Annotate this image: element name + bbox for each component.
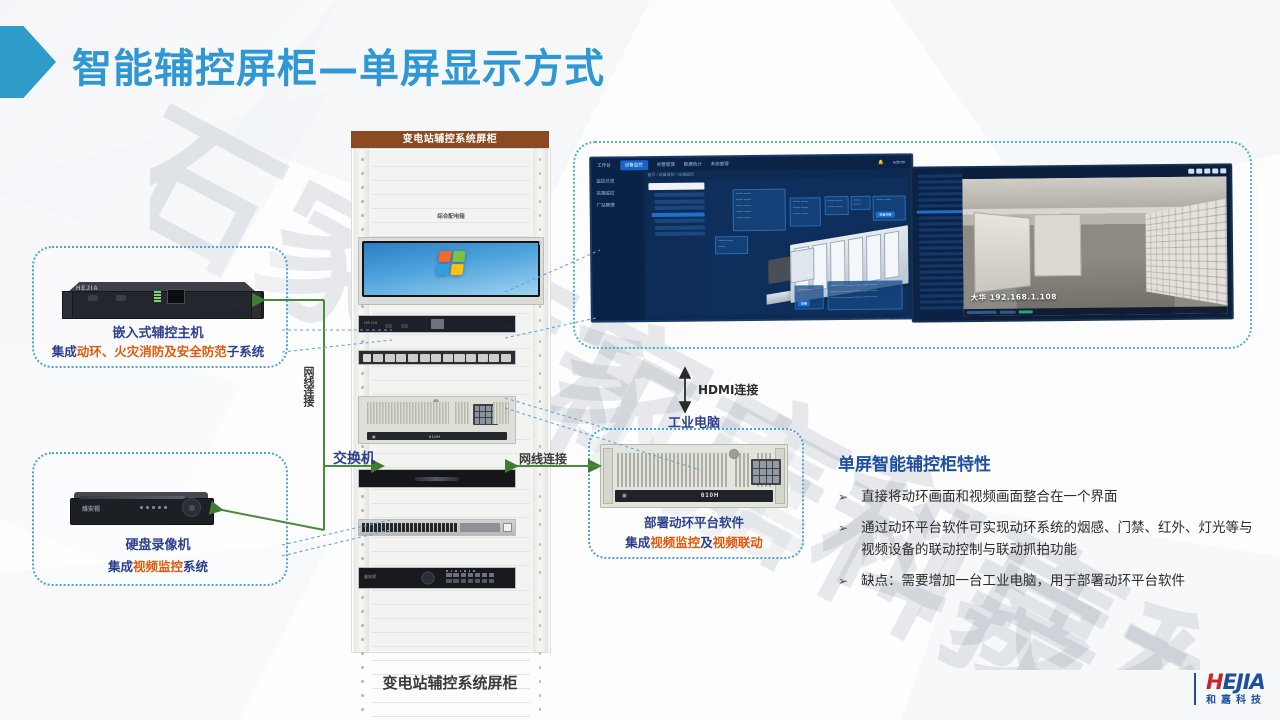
industrial-pc-line2: 集成视频监控及视频联动 [586,532,802,551]
layout-4x4-icon[interactable] [1212,168,1218,173]
rack-caption: 变电站辅控系统屏柜 [330,672,570,693]
feature-item: ➢ 缺点：需要增加一台工业电脑，用于部署动环平台软件 [838,571,1256,593]
rack-unit-pdu [358,350,516,365]
ipc-line2-highlight2: 视频联动 [713,535,763,550]
page-title: 智能辅控屏柜—单屏显示方式 [72,36,605,94]
slide-root: 石家庄和嘉科技有限公司 石家庄和嘉科技有限公司 智能辅控屏柜—单屏显示方式 HE… [0,0,1280,720]
dashboard-menu-item[interactable]: 告警管理 [657,161,675,167]
industrial-pc-model: 610H [701,493,719,499]
features-panel: 单屏智能辅控柜特性 ➢ 直接将动环画面和视频画面整合在一个界面 ➢ 通过动环平台… [838,450,1256,601]
dashboard-user[interactable]: admin [893,159,905,164]
layout-3x3-icon[interactable] [1204,169,1210,174]
feature-item: ➢ 通过动环平台软件可实现动环系统的烟感、门禁、红外、灯光等与视频设备的联动控制… [838,518,1256,562]
dashboard-canvas: —— ———— ———— ———— ———— —— —— ———— ———— —… [704,177,908,315]
rack-unit-blank [358,469,516,488]
ipc-line2-highlight1: 视频监控 [650,535,700,550]
logo-en-rest: EJIA [1223,670,1265,694]
rack-monitor [358,237,544,305]
logo-cn: 和嘉科技 [1206,696,1266,706]
dashboard-tree-search[interactable] [648,182,704,190]
feature-text: 直接将动环画面和视频画面整合在一个界面 [861,487,1118,509]
dashboard-side-item[interactable]: 监控总览 [591,175,643,188]
dashboard-breadcrumb: 首页 / 设备监控 / 站端监控 [647,172,694,178]
dashboard-sidebar[interactable]: 监控总览 站端监控 厂站管理 [591,171,645,321]
features-title: 单屏智能辅控柜特性 [838,450,1256,475]
dvr-subtitle: 集成视频监控系统 [32,556,284,575]
dvr-brand-label: 维安视 [82,504,100,513]
embedded-aux-host-image: HEJIA . . . . . . . . . . . . . . [62,282,262,322]
rack-cabinet: 变电站辅控系统屏柜 综合配电箱 [351,131,549,651]
logo-divider [1194,673,1196,705]
video-overlay-text: 大华 192.168.1.108 [971,291,1057,303]
aux-host-sub-highlight: 动环、火灾消防及安全防范 [77,344,227,359]
dashboard-menu-item[interactable]: 系统管理 [711,161,729,167]
dashboard-screen[interactable]: 工作台 设备监控 告警管理 数据统计 系统管理 🔔 admin 首页 / 设备监… [589,153,915,322]
dashboard-tree[interactable] [645,179,708,316]
pdb-label: 综合配电箱 [372,212,530,220]
dashboard-side-item[interactable]: 站端监控 [591,187,643,200]
rack-unit-ipc: ▣610H [358,396,516,444]
feature-item: ➢ 直接将动环画面和视频画面整合在一个界面 [838,487,1256,509]
host-brand-label: HEJIA [76,286,99,292]
switch-label: 交换机 [333,448,375,468]
dashboard-menu-item-active[interactable]: 设备监控 [620,160,648,170]
dvr-sub-suffix: 系统 [183,559,208,574]
layout-1x1-icon[interactable] [1188,169,1194,174]
bullet-icon: ➢ [838,518,848,562]
screens-panel: 工作台 设备监控 告警管理 数据统计 系统管理 🔔 admin 首页 / 设备监… [573,141,1252,349]
dashboard-side-item[interactable]: 厂站管理 [592,199,644,212]
lan-label: 网线连接 [519,450,567,467]
ipc-line2-prefix: 集成 [625,535,650,550]
aux-host-sub-suffix: 子系统 [227,344,265,359]
company-logo: HEJIA 和嘉科技 [1194,672,1266,706]
bell-icon[interactable]: 🔔 [878,159,884,165]
layout-2x2-icon[interactable] [1196,169,1202,174]
hdmi-label: HDMI连接 [698,381,758,398]
video-layout-toolbar[interactable] [1188,168,1226,173]
feature-text: 通过动环平台软件可实现动环系统的烟感、门禁、红外、灯光等与视频设备的联动控制与联… [861,518,1256,562]
dashboard-topbar[interactable]: 工作台 设备监控 告警管理 数据统计 系统管理 🔔 admin [591,155,911,171]
rack-unit-nvr: 维安视 [358,567,516,589]
bullet-icon: ➢ [838,487,848,509]
logo-en-red: H [1206,670,1223,694]
feature-text: 缺点：需要增加一台工业电脑，用于部署动环平台软件 [861,571,1185,593]
logo-en: HEJIA [1206,672,1266,693]
chevron-icon [0,26,56,98]
aux-host-name: 嵌入式辅控主机 [32,322,284,341]
industrial-pc-line1: 部署动环平台软件 [588,512,800,531]
rack-unit-aux-host: HEJIA . . . . . . [358,315,516,333]
video-stream[interactable]: 大华 192.168.1.108 [962,176,1227,316]
dvr-sub-prefix: 集成 [108,559,133,574]
video-status-bar[interactable] [964,306,1228,316]
aux-host-sub-prefix: 集成 [52,344,77,359]
rack-ipc-model: 610H [429,434,441,439]
dashboard-menu-item[interactable]: 数据统计 [684,161,702,167]
aux-host-subtitle: 集成动环、火灾消防及安全防范子系统 [32,341,284,360]
lan-label-vertical: 网线连接 [300,366,316,406]
dvr-sub-highlight: 视频监控 [133,559,183,574]
dvr-image: 维安视 [70,492,212,526]
bullet-icon: ➢ [838,571,848,593]
video-device-tree[interactable] [912,168,966,321]
fullscreen-icon[interactable] [1220,168,1226,173]
rack-unit-switch [358,519,516,536]
industrial-pc-image: ▣610H [600,444,788,508]
ipc-line2-mid: 及 [700,535,713,550]
dvr-name: 硬盘录像机 [32,534,284,553]
industrial-pc-title: 工业电脑 [588,412,800,431]
dashboard-menu-item[interactable]: 工作台 [597,162,611,168]
rack-header-label: 变电站辅控系统屏柜 [351,131,549,148]
features-list: ➢ 直接将动环画面和视频画面整合在一个界面 ➢ 通过动环平台软件可实现动环系统的… [838,487,1256,592]
video-screen[interactable]: 大华 192.168.1.108 [910,163,1234,322]
